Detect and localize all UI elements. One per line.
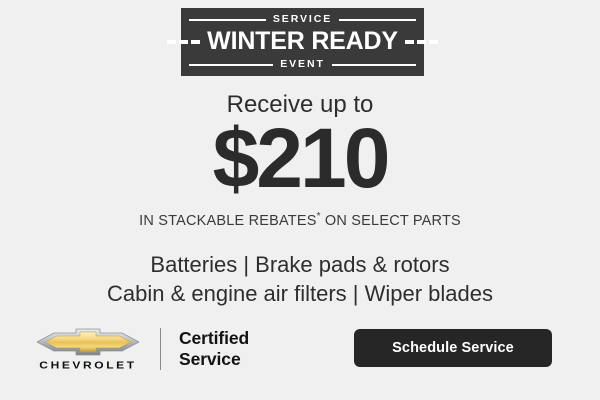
offer-amount: $210 [0, 116, 600, 200]
certified-service-line-2: Service [179, 349, 249, 370]
banner-dashes-left-icon [167, 40, 200, 44]
offer-terms-text: IN STACKABLE REBATES* ON SELECT PARTS [0, 214, 600, 229]
chevrolet-bowtie-icon [34, 327, 142, 357]
banner-rule-right-top [339, 19, 416, 21]
chevrolet-wordmark: CHEVROLET [39, 360, 136, 370]
winter-ready-event-banner: SERVICE WINTER READY EVENT [181, 8, 424, 76]
lockup-divider [160, 328, 161, 370]
offer-terms-suffix: ON SELECT PARTS [321, 213, 461, 229]
eligible-products-list: Batteries | Brake pads & rotors Cabin & … [0, 250, 600, 308]
product-line-1: Batteries | Brake pads & rotors [0, 250, 600, 279]
certified-service-line-1: Certified [179, 328, 249, 349]
brand-lockup: CHEVROLET Certified Service [32, 318, 249, 380]
banner-dashes-right-icon [405, 40, 438, 44]
footer-bar: CHEVROLET Certified Service Schedule Ser… [0, 318, 600, 380]
product-line-2: Cabin & engine air filters | Wiper blade… [0, 279, 600, 308]
banner-title-row: WINTER READY [181, 26, 424, 58]
chevrolet-brand-mark: CHEVROLET [32, 327, 144, 371]
banner-kicker-bottom: EVENT [280, 59, 325, 70]
banner-rule-right-bottom [332, 64, 416, 66]
offer-terms-main: IN STACKABLE REBATES [139, 213, 317, 229]
banner-rule-left-top [189, 19, 266, 21]
banner-title: WINTER READY [207, 29, 398, 54]
banner-kicker-bottom-row: EVENT [181, 58, 424, 71]
banner-kicker-top: SERVICE [273, 14, 332, 25]
banner-kicker-top-row: SERVICE [181, 13, 424, 26]
banner-rule-left-bottom [189, 64, 273, 66]
schedule-service-button[interactable]: Schedule Service [354, 329, 552, 367]
certified-service-label: Certified Service [179, 328, 249, 370]
advertisement-canvas: SERVICE WINTER READY EVENT Receive up to… [0, 0, 600, 400]
